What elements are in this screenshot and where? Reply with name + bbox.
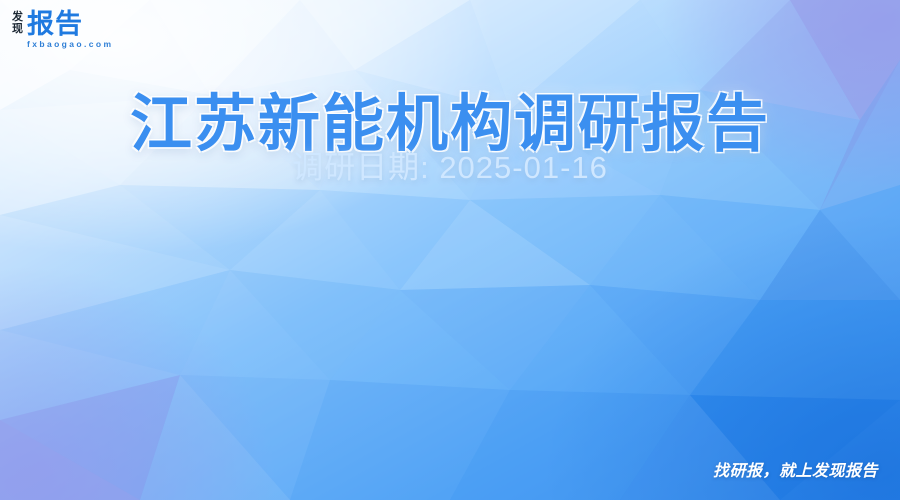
logo-mark-discover: 发 现 <box>12 10 23 35</box>
logo-mark-char-bottom: 现 <box>12 23 23 35</box>
logo-mark-char-top: 发 <box>12 11 23 23</box>
report-cover-page: 发 现 报告 fxbaogao.com 江苏新能机构调研报告 调研日期: 202… <box>0 0 900 500</box>
cover-subtitle: 调研日期: 2025-01-16 <box>0 148 900 188</box>
logo-wordmark: 报告 <box>27 10 113 38</box>
low-poly-background <box>0 0 900 500</box>
logo-url: fxbaogao.com <box>27 39 113 50</box>
logo-text-group: 报告 fxbaogao.com <box>27 10 113 50</box>
footer-tagline: 找研报，就上发现报告 <box>713 462 878 482</box>
brand-logo[interactable]: 发 现 报告 fxbaogao.com <box>12 10 113 50</box>
